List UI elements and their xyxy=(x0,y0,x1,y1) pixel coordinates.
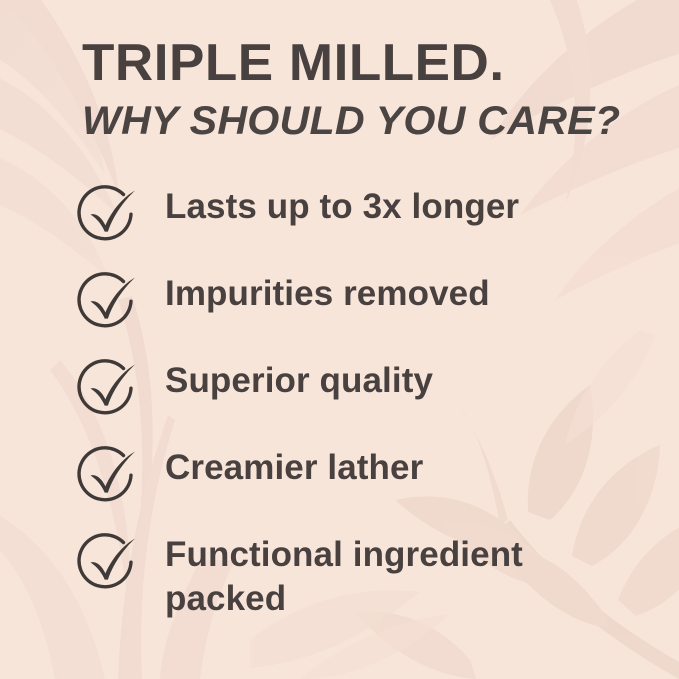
check-circle-icon xyxy=(74,186,142,248)
list-item: Functional ingredient packed xyxy=(0,534,679,621)
benefit-list: Lasts up to 3x longer Impurities removed xyxy=(0,186,679,621)
list-item: Superior quality xyxy=(0,360,679,447)
check-circle-icon xyxy=(74,447,142,509)
list-item: Impurities removed xyxy=(0,273,679,360)
list-item-label: Superior quality xyxy=(165,359,595,403)
list-item-label: Lasts up to 3x longer xyxy=(165,185,595,229)
poster-content: TRIPLE MILLED. WHY SHOULD YOU CARE? Last… xyxy=(0,0,679,679)
page-subtitle: WHY SHOULD YOU CARE? xyxy=(82,99,659,143)
check-circle-icon xyxy=(74,360,142,422)
check-circle-icon xyxy=(74,534,142,596)
list-item-label: Impurities removed xyxy=(165,272,595,316)
list-item-label: Functional ingredient packed xyxy=(165,533,595,621)
promo-poster: TRIPLE MILLED. WHY SHOULD YOU CARE? Last… xyxy=(0,0,679,679)
list-item-label: Creamier lather xyxy=(165,446,595,490)
check-circle-icon xyxy=(74,273,142,335)
list-item: Creamier lather xyxy=(0,447,679,534)
headline-block: TRIPLE MILLED. WHY SHOULD YOU CARE? xyxy=(82,36,642,143)
page-title: TRIPLE MILLED. xyxy=(82,36,653,90)
list-item: Lasts up to 3x longer xyxy=(0,186,679,273)
